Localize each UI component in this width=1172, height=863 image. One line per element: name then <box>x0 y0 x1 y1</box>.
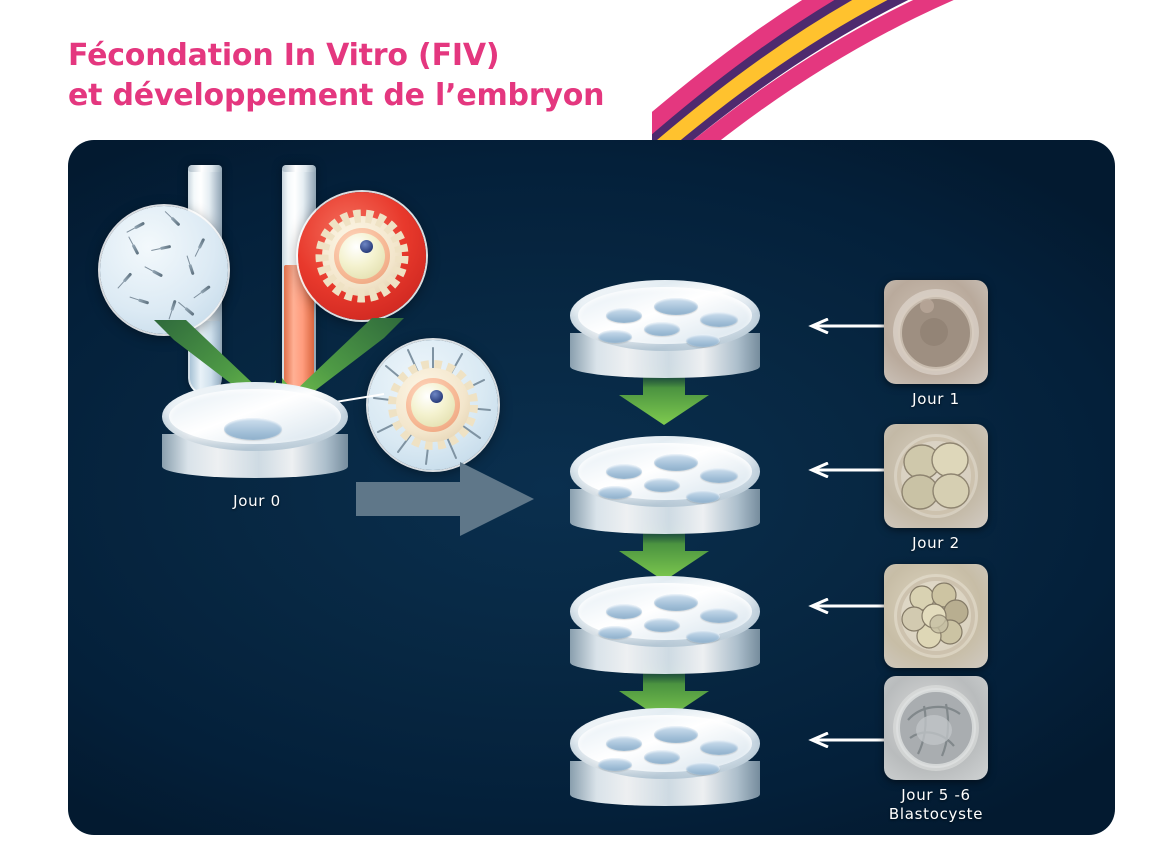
pointer-arrow-day56 <box>808 732 894 748</box>
embryo-image-day2 <box>884 424 988 528</box>
embryo-image-day3 <box>884 564 988 668</box>
petri-dish-day1 <box>570 280 760 378</box>
petri-dish-day2 <box>570 436 760 534</box>
embryo-image-day1 <box>884 280 988 384</box>
day0-label: Jour 0 <box>202 492 312 511</box>
embryo-image-day56 <box>884 676 988 780</box>
petri-dish-day0 <box>162 382 348 478</box>
pointer-arrow-day2 <box>808 462 894 478</box>
petri-dish-day3 <box>570 576 760 674</box>
diagram-panel: Jour 0 <box>68 140 1115 835</box>
spermatozoides-inset <box>100 206 228 334</box>
ovocyte-inset <box>298 192 426 320</box>
embryo-caption-day2: Jour 2 <box>884 534 988 553</box>
slide-root: Fécondation In Vitro (FIV) et développem… <box>0 0 1172 863</box>
page-title: Fécondation In Vitro (FIV) et développem… <box>68 36 604 115</box>
embryo-caption-day56: Jour 5 -6 Blastocyste <box>864 786 1008 824</box>
process-arrow <box>356 462 536 536</box>
petri-dish-day56 <box>570 708 760 806</box>
pointer-arrow-day1 <box>808 318 894 334</box>
pointer-arrow-day3 <box>808 598 894 614</box>
embryo-caption-day1: Jour 1 <box>884 390 988 409</box>
